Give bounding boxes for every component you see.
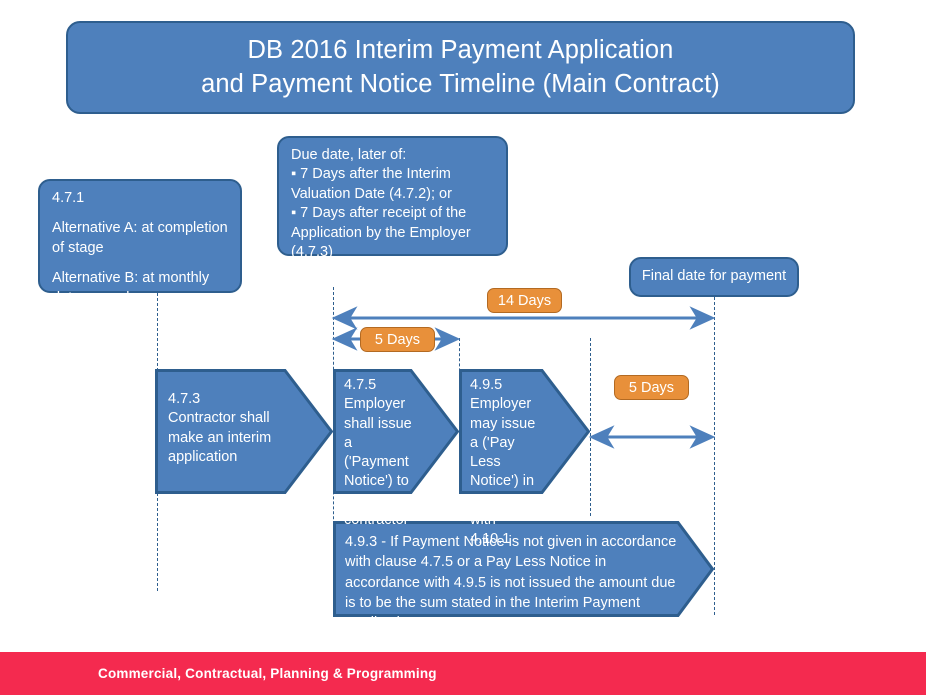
process-step-clause-4-7-3: 4.7.3 Contractor shall make an interim a… bbox=[155, 369, 333, 494]
callout-471-alternative-a: Alternative A: at completion of stage bbox=[52, 219, 230, 258]
step-475-heading: 4.7.5 bbox=[344, 376, 459, 395]
guide-line-pay-less-notice bbox=[590, 338, 591, 516]
footer-bar: Commercial, Contractual, Planning & Prog… bbox=[0, 652, 926, 695]
final-date-label: Final date for payment bbox=[642, 267, 786, 286]
badge-5-days-payment-notice: 5 Days bbox=[360, 327, 435, 352]
due-date-bullet-2: ▪ 7 Days after receipt of the Applicatio… bbox=[291, 204, 496, 262]
callout-471-alternative-b: Alternative B: at monthly date agreed bbox=[52, 269, 230, 308]
footer-label: Commercial, Contractual, Planning & Prog… bbox=[98, 666, 437, 681]
note-493-text: 4.9.3 - If Payment Notice is not given i… bbox=[345, 532, 685, 633]
step-495-heading: 4.9.5 bbox=[470, 376, 590, 395]
guide-line-final-date bbox=[714, 287, 715, 615]
slide-title-line-2: and Payment Notice Timeline (Main Contra… bbox=[201, 68, 720, 102]
process-step-clause-4-7-5: 4.7.5 Employer shall issue a ('Payment N… bbox=[333, 369, 459, 494]
callout-clause-4-7-1: 4.7.1 Alternative A: at completion of st… bbox=[38, 179, 242, 293]
slide-title-line-1: DB 2016 Interim Payment Application bbox=[248, 34, 674, 68]
step-475-body: Employer shall issue a ('Payment Notice'… bbox=[344, 395, 414, 530]
badge-14-days-label: 14 Days bbox=[498, 293, 551, 309]
step-473-body: Contractor shall make an interim applica… bbox=[168, 409, 286, 467]
note-clause-4-9-3: 4.9.3 - If Payment Notice is not given i… bbox=[333, 521, 714, 617]
process-step-clause-4-9-5: 4.9.5 Employer may issue a ('Pay Less No… bbox=[459, 369, 590, 494]
badge-14-days: 14 Days bbox=[487, 288, 562, 313]
callout-471-heading: 4.7.1 bbox=[52, 189, 230, 208]
due-date-bullet-1: ▪ 7 Days after the Interim Valuation Dat… bbox=[291, 165, 496, 204]
step-473-heading: 4.7.3 bbox=[168, 390, 333, 409]
slide-canvas: DB 2016 Interim Payment Application and … bbox=[0, 0, 926, 695]
badge-5-days-left-label: 5 Days bbox=[375, 332, 420, 348]
slide-title-banner: DB 2016 Interim Payment Application and … bbox=[66, 21, 855, 114]
callout-final-date-for-payment: Final date for payment bbox=[629, 257, 799, 297]
badge-5-days-pay-less-notice: 5 Days bbox=[614, 375, 689, 400]
callout-due-date: Due date, later of: ▪ 7 Days after the I… bbox=[277, 136, 508, 256]
due-date-heading: Due date, later of: bbox=[291, 146, 496, 165]
badge-5-days-right-label: 5 Days bbox=[629, 380, 674, 396]
